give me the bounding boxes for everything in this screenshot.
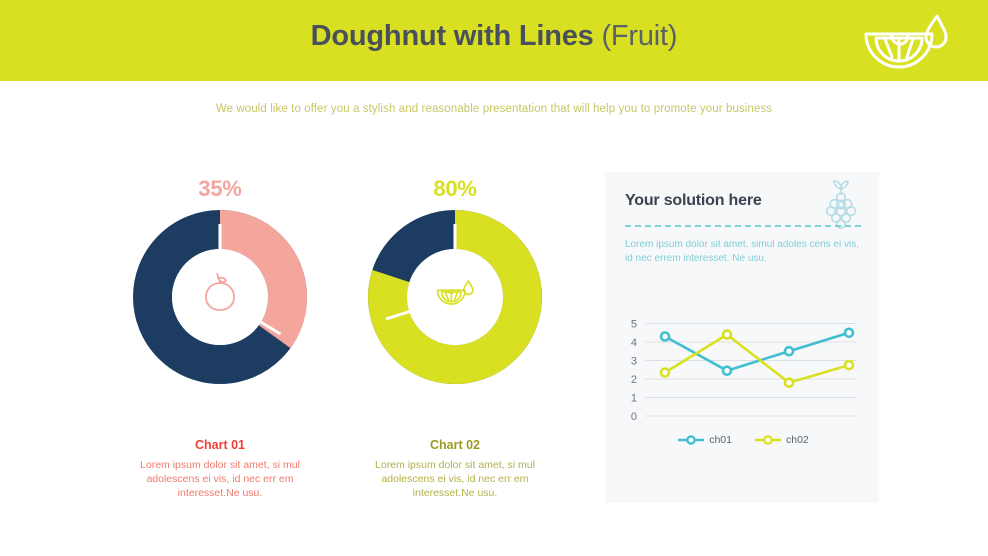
donut-block-chart-01: 35% Chart 01 Lorem ipsum dolor <box>105 172 335 500</box>
subtitle: We would like to offer you a stylish and… <box>0 103 988 115</box>
svg-text:4: 4 <box>631 337 637 349</box>
legend-label-ch02: ch02 <box>786 434 809 446</box>
line-chart[interactable]: 5 4 3 2 1 0 <box>617 306 869 491</box>
svg-text:1: 1 <box>631 393 637 405</box>
solution-panel: Your solution here Lorem ipsum dolor sit… <box>605 172 879 503</box>
series-points-ch01 <box>661 329 853 375</box>
donut-percent-label-01: 35% <box>105 172 335 206</box>
apple-icon <box>197 270 243 316</box>
page-title-bold: Doughnut with Lines <box>311 20 594 52</box>
donut-wrap-02 <box>340 206 570 388</box>
line-chart-svg: 5 4 3 2 1 0 <box>617 306 869 432</box>
donut-title-02: Chart 02 <box>340 438 570 452</box>
svg-text:3: 3 <box>631 356 637 368</box>
header-band: Doughnut with Lines (Fruit) <box>0 0 988 81</box>
line-chart-legend: ch01 ch02 <box>617 434 869 446</box>
donut-body-01: Lorem ipsum dolor sit amet, si mul adole… <box>105 458 335 500</box>
grapes-icon <box>819 180 863 230</box>
legend-label-ch01: ch01 <box>709 434 732 446</box>
legend-marker-ch01 <box>677 434 705 446</box>
donut-wrap-01 <box>105 206 335 388</box>
panel-divider <box>625 225 861 227</box>
svg-text:0: 0 <box>631 411 637 423</box>
legend-marker-ch02 <box>754 434 782 446</box>
svg-text:2: 2 <box>631 374 637 386</box>
y-axis-ticks: 5 4 3 2 1 0 <box>631 319 637 424</box>
lemon-slice-icon <box>432 270 478 316</box>
lemon-slice-icon <box>852 8 960 74</box>
grid-lines <box>645 324 857 417</box>
series-line-ch01 <box>665 333 849 371</box>
legend-item-ch01[interactable]: ch01 <box>677 434 732 446</box>
panel-text: Lorem ipsum dolor sit amet, simul adoles… <box>625 238 863 266</box>
donut-title-01: Chart 01 <box>105 438 335 452</box>
legend-item-ch02[interactable]: ch02 <box>754 434 809 446</box>
page-title-thin: (Fruit) <box>601 20 677 52</box>
page-title: Doughnut with Lines (Fruit) <box>0 20 988 53</box>
panel-title: Your solution here <box>625 192 762 210</box>
svg-text:5: 5 <box>631 319 637 331</box>
slide: Doughnut with Lines (Fruit) We would lik… <box>0 0 988 556</box>
donut-block-chart-02: 80% Chart <box>340 172 570 500</box>
donut-percent-label-02: 80% <box>340 172 570 206</box>
donut-body-02: Lorem ipsum dolor sit amet, si mul adole… <box>340 458 570 500</box>
